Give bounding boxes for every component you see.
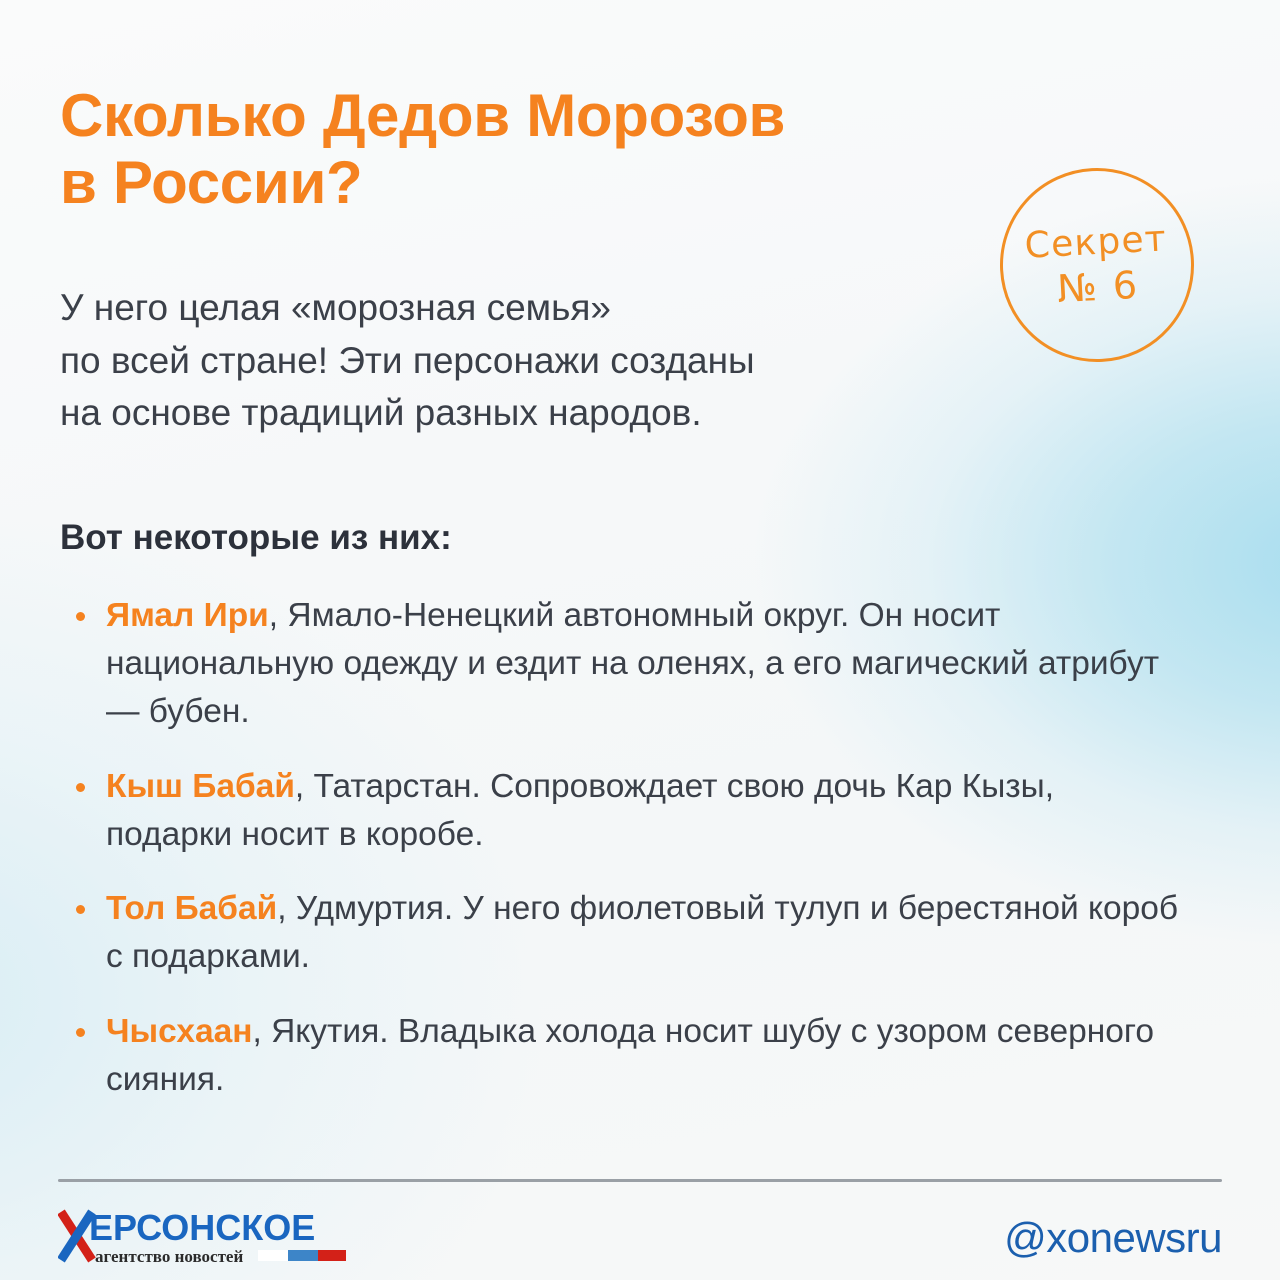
page-title: Сколько Дедов Морозов в России? (60, 82, 990, 216)
list-item: Ямал Ири, Ямало-Ненецкий автономный окру… (60, 592, 1180, 737)
secret-badge-number: № 6 (1056, 262, 1140, 310)
list-item-name: Чысхаан (106, 1013, 252, 1050)
bullet-dot-icon (76, 783, 85, 792)
list-item-name: Кыш Бабай (106, 768, 295, 805)
secret-badge-label: Секрет (1024, 218, 1168, 266)
list-item: Чысхаан, Якутия. Владыка холода носит шу… (60, 1008, 1180, 1104)
social-handle[interactable]: @xonewsru (1004, 1214, 1222, 1262)
infographic-card: Сколько Дедов Морозов в России? Секрет №… (0, 0, 1280, 1280)
list-item-text: , Якутия. Владыка холода носит шубу с уз… (106, 1013, 1154, 1098)
list-item: Тол Бабай, Удмуртия. У него фиолетовый т… (60, 885, 1180, 981)
footer-divider (58, 1179, 1222, 1182)
logo-wordmark: ЕРСОНСКОЕ (89, 1207, 315, 1248)
bullet-dot-icon (76, 612, 85, 621)
list-item: Кыш Бабай, Татарстан. Сопровождает свою … (60, 763, 1180, 859)
list-item-name: Тол Бабай (106, 890, 277, 927)
section-subheading: Вот некоторые из них: (60, 518, 452, 558)
kherson-news-agency-logo: ЕРСОНСКОЕ агентство новостей (58, 1206, 348, 1268)
secret-badge: Секрет № 6 (995, 163, 1199, 367)
logo-subtitle: агентство новостей (95, 1247, 243, 1266)
character-list: Ямал Ири, Ямало-Ненецкий автономный окру… (60, 592, 1180, 1104)
bullet-dot-icon (76, 1028, 85, 1037)
list-item-name: Ямал Ири (106, 597, 269, 634)
intro-paragraph: У него целая «морозная семья» по всей ст… (60, 282, 1020, 440)
bullet-dot-icon (76, 905, 85, 914)
